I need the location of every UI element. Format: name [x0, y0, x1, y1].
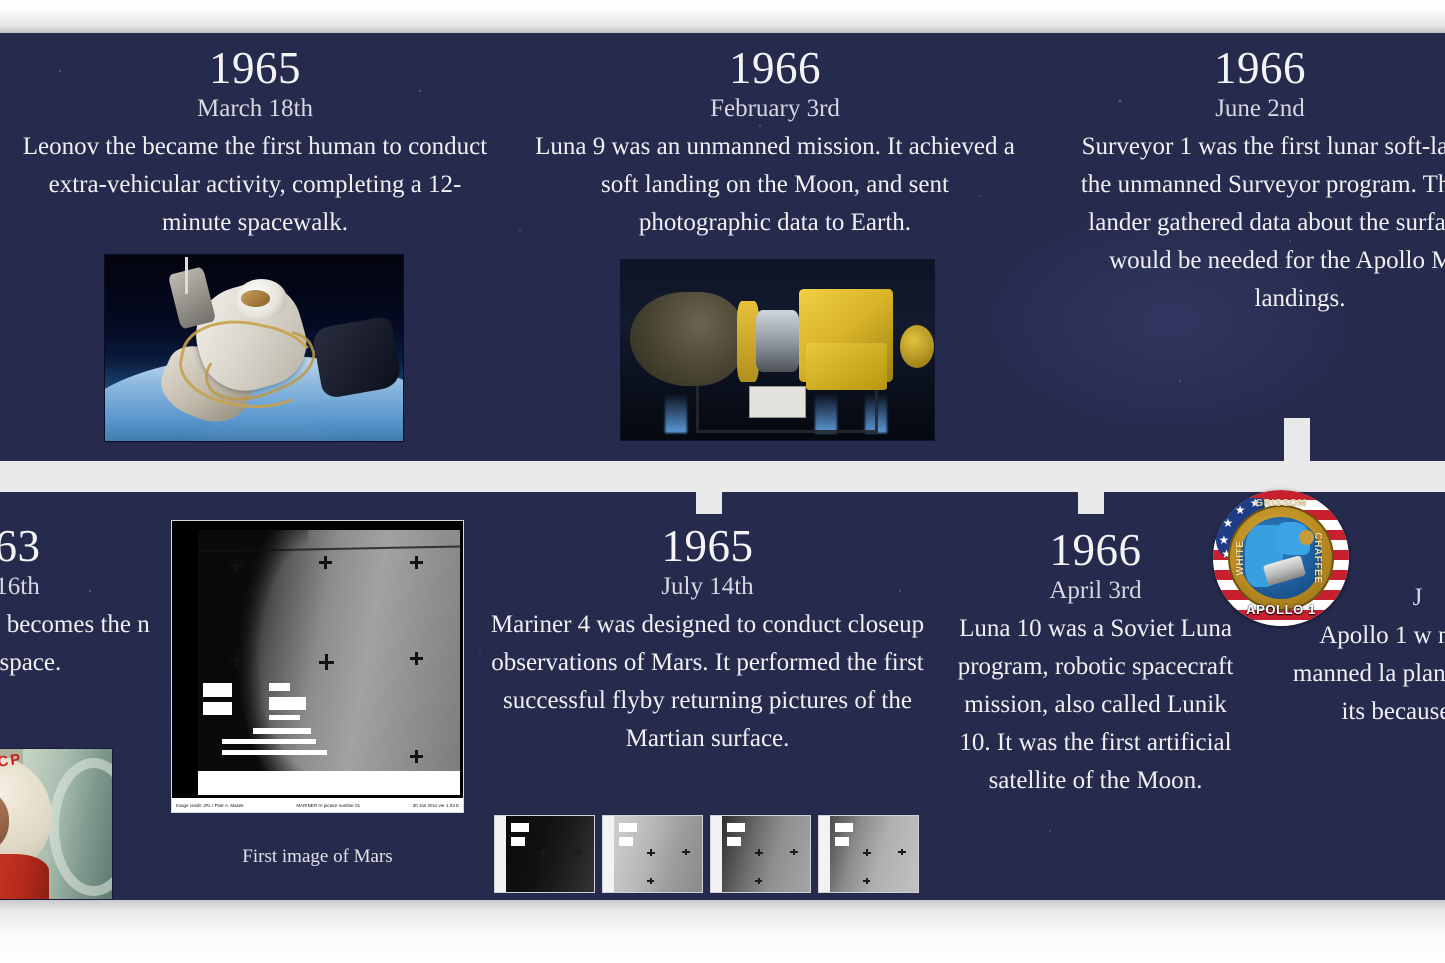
data-artifact: [727, 823, 745, 832]
cosmonaut-suit: [0, 854, 49, 899]
data-artifact: [222, 739, 316, 744]
timeline-tick-up-surveyor: [1284, 418, 1310, 462]
space-timeline-poster: 1965 March 18th Leonov the became the fi…: [0, 0, 1445, 963]
fiducial-mark: [319, 654, 335, 670]
apollo1-mission-patch: ★ ★ ★ ★ ★ GRISSOM WHITE CHAFFEE APOLLO 1: [1213, 490, 1349, 626]
mars-limb-shadow: [198, 530, 308, 795]
frame-margin: [495, 816, 506, 892]
propellant-tank: [900, 325, 934, 368]
page-top-edge: [0, 0, 1445, 33]
fiducial-mark: [574, 849, 582, 855]
data-artifact: [511, 823, 529, 832]
fiducial-mark: [319, 556, 332, 569]
event-year: 1965: [20, 42, 490, 94]
image-credit-bar: Image credit: JPL / Piotr A. Masek MARIN…: [172, 798, 463, 812]
mariner4-filmstrip-frame: [602, 815, 703, 893]
frame-margin: [819, 816, 830, 892]
timeline-event-luna9: 1966 February 3rd Luna 9 was an unmanned…: [535, 42, 1015, 242]
fiducial-mark: [647, 878, 655, 884]
tereshkova-photo: СССР: [0, 748, 113, 900]
fiducial-mark: [863, 878, 871, 884]
timeline-event-luna10: 1966 April 3rd Luna 10 was a Soviet Luna…: [948, 524, 1243, 800]
fiducial-mark: [682, 849, 690, 855]
fiducial-mark: [790, 849, 798, 855]
data-artifact: [619, 837, 633, 845]
fiducial-mark: [863, 849, 872, 856]
timeline-event-surveyor1: 1966 June 2nd Surveyor 1 was the first l…: [1075, 42, 1445, 318]
data-artifact: [269, 683, 290, 691]
luna9-museum-photo: [620, 259, 935, 441]
fiducial-mark: [755, 849, 764, 856]
event-year: 1966: [948, 524, 1243, 576]
data-dropout-band: [198, 771, 460, 795]
module-midsection: [756, 310, 800, 371]
event-year: 1966: [1075, 42, 1445, 94]
credit-left: Image credit: JPL / Piotr A. Masek: [176, 803, 244, 808]
event-date: February 3rd: [535, 92, 1015, 126]
data-artifact: [835, 823, 853, 832]
timeline-tick-down-luna10: [1078, 492, 1104, 514]
credit-right: 30 Jan 2011 ver 1.03 E: [413, 803, 459, 808]
event-year: 63: [0, 520, 150, 572]
mariner4-filmstrip-frame: [818, 815, 919, 893]
fiducial-mark: [647, 849, 656, 856]
mars-surface-frame: [198, 530, 460, 795]
fiducial-mark: [230, 654, 243, 667]
event-date: March 18th: [20, 92, 490, 126]
star-icon: ★: [1250, 497, 1261, 509]
event-date: July 14th: [485, 570, 930, 604]
data-artifact: [511, 837, 525, 845]
star-icon: ★: [1223, 517, 1234, 529]
spacecraft-body-lower: [806, 343, 887, 390]
timeline-event-tereshkova: 63 16th Nikolayeva becomes the n in spac…: [0, 520, 150, 682]
event-description: Leonov the became the first human to con…: [20, 128, 490, 242]
data-artifact: [222, 750, 327, 755]
moon-disc: [1299, 530, 1314, 545]
mars-image-caption: First image of Mars: [171, 844, 464, 870]
event-date: 16th: [0, 570, 150, 604]
frame-margin: [711, 816, 722, 892]
fiducial-mark: [898, 849, 906, 855]
star-icon: ★: [1218, 534, 1229, 546]
timeline-bar: [0, 461, 1445, 492]
event-description: Surveyor 1 was the first lunar soft-land…: [1075, 128, 1445, 318]
mariner4-filmstrip-frame: [710, 815, 811, 893]
first-mars-image-photo: Image credit: JPL / Piotr A. Masek MARIN…: [171, 520, 464, 813]
event-date: April 3rd: [948, 574, 1243, 608]
event-description: Mariner 4 was designed to conduct closeu…: [485, 606, 930, 758]
fiducial-mark: [410, 652, 423, 665]
credit-center: MARINER IV picture number 01: [244, 803, 413, 808]
page-bottom-edge: [0, 900, 1445, 963]
data-artifact: [253, 728, 311, 733]
event-year: 1965: [485, 520, 930, 572]
antenna-rod: [185, 257, 188, 294]
equipment-pack: [311, 316, 403, 400]
event-description: Luna 10 was a Soviet Luna program, robot…: [948, 610, 1243, 800]
fiducial-mark: [539, 878, 547, 884]
event-description: Luna 9 was an unmanned mission. It achie…: [535, 128, 1015, 242]
fiducial-mark: [230, 559, 243, 572]
event-description: Nikolayeva becomes the n in space.: [0, 606, 150, 682]
event-year: 1966: [535, 42, 1015, 94]
frame-margin: [603, 816, 614, 892]
exhibit-light: [665, 393, 687, 433]
patch-earth-disc: [1240, 517, 1322, 599]
event-date: June 2nd: [1075, 92, 1445, 126]
fiducial-mark: [755, 878, 763, 884]
data-artifact: [269, 715, 300, 720]
exhibit-placard: [749, 386, 805, 418]
fiducial-mark: [410, 750, 423, 763]
star-icon: ★: [1235, 504, 1246, 516]
data-artifact: [203, 702, 232, 715]
data-artifact: [269, 697, 306, 710]
mariner4-filmstrip-frame: [494, 815, 595, 893]
data-artifact: [835, 837, 849, 845]
descent-module: [630, 292, 743, 386]
leonov-spacewalk-photo: [104, 254, 404, 442]
data-artifact: [727, 837, 741, 845]
timeline-event-mariner4: 1965 July 14th Mariner 4 was designed to…: [485, 520, 930, 758]
timeline-tick-down-mariner: [696, 492, 722, 514]
maneuvering-unit: [167, 266, 215, 329]
data-artifact: [619, 823, 637, 832]
timeline-event-leonov: 1965 March 18th Leonov the became the fi…: [20, 42, 490, 242]
fiducial-mark: [410, 556, 423, 569]
fiducial-mark: [539, 849, 548, 856]
event-description: Apollo 1 w mission manned la planned mad…: [1285, 617, 1445, 731]
data-artifact: [203, 683, 232, 696]
